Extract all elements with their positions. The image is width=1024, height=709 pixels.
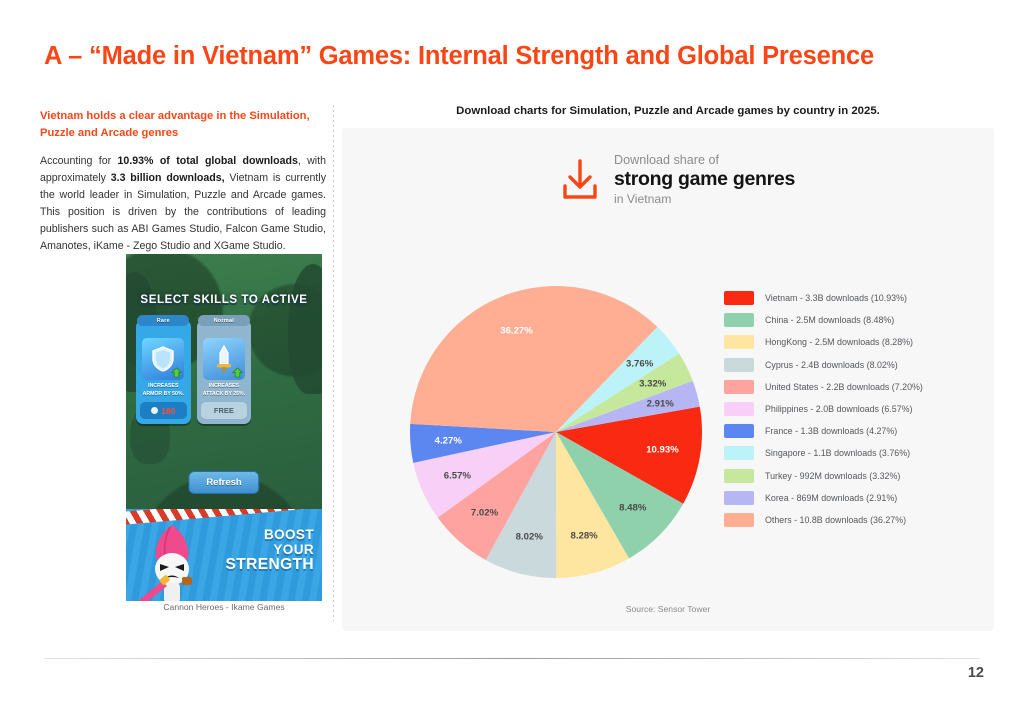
image-caption: Cannon Heroes - Ikame Games xyxy=(126,602,322,612)
shield-icon xyxy=(142,338,184,380)
price-value: 180 xyxy=(161,406,175,416)
chart-title: strong game genres xyxy=(614,168,795,191)
skill-card-list: Rare INCREASES ARMOR BY 50%. 180 xyxy=(136,320,312,424)
rarity-badge: Rare xyxy=(137,315,189,326)
pie-slice-label: 3.76% xyxy=(626,358,653,369)
refresh-button[interactable]: Refresh xyxy=(188,471,259,494)
skill-description: INCREASES ATTACK BY 25%. xyxy=(197,383,252,402)
legend-item-label: Korea - 869M downloads (2.91%) xyxy=(765,493,897,503)
legend-item[interactable]: Singapore - 1.1B downloads (3.76%) xyxy=(724,442,974,464)
legend-item[interactable]: France - 1.3B downloads (4.27%) xyxy=(724,420,974,442)
legend-item[interactable]: China - 2.5M downloads (8.48%) xyxy=(724,309,974,331)
legend-item-label: Philippines - 2.0B downloads (6.57%) xyxy=(765,404,913,414)
price-value: FREE xyxy=(214,406,234,415)
chart-title-block: Download share of strong game genres in … xyxy=(560,152,795,207)
ninja-character-icon xyxy=(136,519,208,601)
chart-title-text: Download share of strong game genres in … xyxy=(614,152,795,207)
banner-line-3: STRENGTH xyxy=(226,557,314,572)
sword-icon xyxy=(203,338,245,380)
legend-color-swatch xyxy=(724,513,754,527)
paragraph-bold-1: 10.93% of total global downloads xyxy=(118,155,298,167)
chart-source: Source: Sensor Tower xyxy=(342,604,994,614)
promo-banner-text: BOOST YOUR STRENGTH xyxy=(226,527,314,572)
legend-color-swatch xyxy=(724,380,754,394)
pie-slice-label: 8.28% xyxy=(570,531,597,542)
legend-item-label: United States - 2.2B downloads (7.20%) xyxy=(765,382,923,392)
legend-item-label: Turkey - 992M downloads (3.32%) xyxy=(765,471,900,481)
skill-description: INCREASES ARMOR BY 50%. xyxy=(136,383,191,402)
page-title: A – “Made in Vietnam” Games: Internal St… xyxy=(44,42,874,71)
slide-root: A – “Made in Vietnam” Games: Internal St… xyxy=(0,0,1024,709)
game-screenshot: SELECT SKILLS TO ACTIVE Rare INCREASES A… xyxy=(126,254,322,601)
legend-item[interactable]: Philippines - 2.0B downloads (6.57%) xyxy=(724,398,974,420)
pie-slice-label: 7.02% xyxy=(471,508,498,519)
legend-item[interactable]: Cyprus - 2.4B downloads (8.02%) xyxy=(724,354,974,376)
paragraph-part-1: Accounting for xyxy=(40,155,118,167)
promo-banner: BOOST YOUR STRENGTH xyxy=(126,509,322,601)
legend-item-label: HongKong - 2.5M downloads (8.28%) xyxy=(765,337,913,347)
vertical-dotted-divider xyxy=(333,105,334,621)
pie-slice-label: 10.93% xyxy=(646,445,679,456)
pie-slice-label: 8.02% xyxy=(516,531,543,542)
legend-item-label: Singapore - 1.1B downloads (3.76%) xyxy=(765,448,910,458)
pie-slice-label: 8.48% xyxy=(619,503,646,514)
pie-slice-label: 2.91% xyxy=(647,398,674,409)
pie-slice-label: 3.32% xyxy=(639,378,666,389)
legend-item[interactable]: Others - 10.8B downloads (36.27%) xyxy=(724,509,974,531)
legend-item[interactable]: HongKong - 2.5M downloads (8.28%) xyxy=(724,331,974,353)
legend-item[interactable]: Korea - 869M downloads (2.91%) xyxy=(724,487,974,509)
legend-color-swatch xyxy=(724,491,754,505)
legend-color-swatch xyxy=(724,402,754,416)
rarity-badge: Normal xyxy=(198,315,250,326)
legend-item[interactable]: United States - 2.2B downloads (7.20%) xyxy=(724,376,974,398)
footer-divider xyxy=(44,658,980,659)
legend-color-swatch xyxy=(724,313,754,327)
pie-slice-label: 4.27% xyxy=(435,435,462,446)
legend-color-swatch xyxy=(724,469,754,483)
left-text-column: Vietnam holds a clear advantage in the S… xyxy=(40,108,326,255)
legend-color-swatch xyxy=(724,291,754,305)
paragraph-bold-2: 3.3 billion downloads, xyxy=(111,172,225,184)
pie-slice-label: 6.57% xyxy=(444,471,471,482)
lead-heading: Vietnam holds a clear advantage in the S… xyxy=(40,108,326,141)
chart-headline: Download charts for Simulation, Puzzle a… xyxy=(342,105,994,117)
chart-legend: Vietnam - 3.3B downloads (10.93%)China -… xyxy=(724,287,974,531)
banner-line-1: BOOST xyxy=(226,527,314,542)
legend-color-swatch xyxy=(724,424,754,438)
body-paragraph: Accounting for 10.93% of total global do… xyxy=(40,153,326,255)
chart-subtitle: in Vietnam xyxy=(614,191,795,207)
legend-item-label: Vietnam - 3.3B downloads (10.93%) xyxy=(765,293,907,303)
download-arrow-icon xyxy=(560,158,600,202)
coin-icon xyxy=(151,407,158,414)
banner-line-2: YOUR xyxy=(226,542,314,557)
paragraph-part-3: Vietnam is currently the world leader in… xyxy=(40,172,326,252)
pie-chart: 10.93%8.48%8.28%8.02%7.02%6.57%4.27%36.2… xyxy=(408,278,708,583)
game-heading: SELECT SKILLS TO ACTIVE xyxy=(126,294,322,306)
skill-card-rare[interactable]: Rare INCREASES ARMOR BY 50%. 180 xyxy=(136,320,191,424)
skill-price[interactable]: 180 xyxy=(140,402,187,419)
legend-item[interactable]: Turkey - 992M downloads (3.32%) xyxy=(724,465,974,487)
legend-item-label: Others - 10.8B downloads (36.27%) xyxy=(765,515,906,525)
skill-card-normal[interactable]: Normal INCREASES ATTACK BY 25%. FREE xyxy=(197,320,252,424)
legend-item[interactable]: Vietnam - 3.3B downloads (10.93%) xyxy=(724,287,974,309)
pie-chart-svg xyxy=(408,278,708,583)
pie-slice-label: 36.27% xyxy=(500,326,533,337)
legend-item-label: China - 2.5M downloads (8.48%) xyxy=(765,315,894,325)
page-number: 12 xyxy=(968,665,984,681)
skill-price[interactable]: FREE xyxy=(201,402,248,419)
chart-kicker: Download share of xyxy=(614,152,795,168)
legend-item-label: Cyprus - 2.4B downloads (8.02%) xyxy=(765,360,898,370)
legend-color-swatch xyxy=(724,358,754,372)
legend-color-swatch xyxy=(724,446,754,460)
legend-color-swatch xyxy=(724,335,754,349)
legend-item-label: France - 1.3B downloads (4.27%) xyxy=(765,426,897,436)
